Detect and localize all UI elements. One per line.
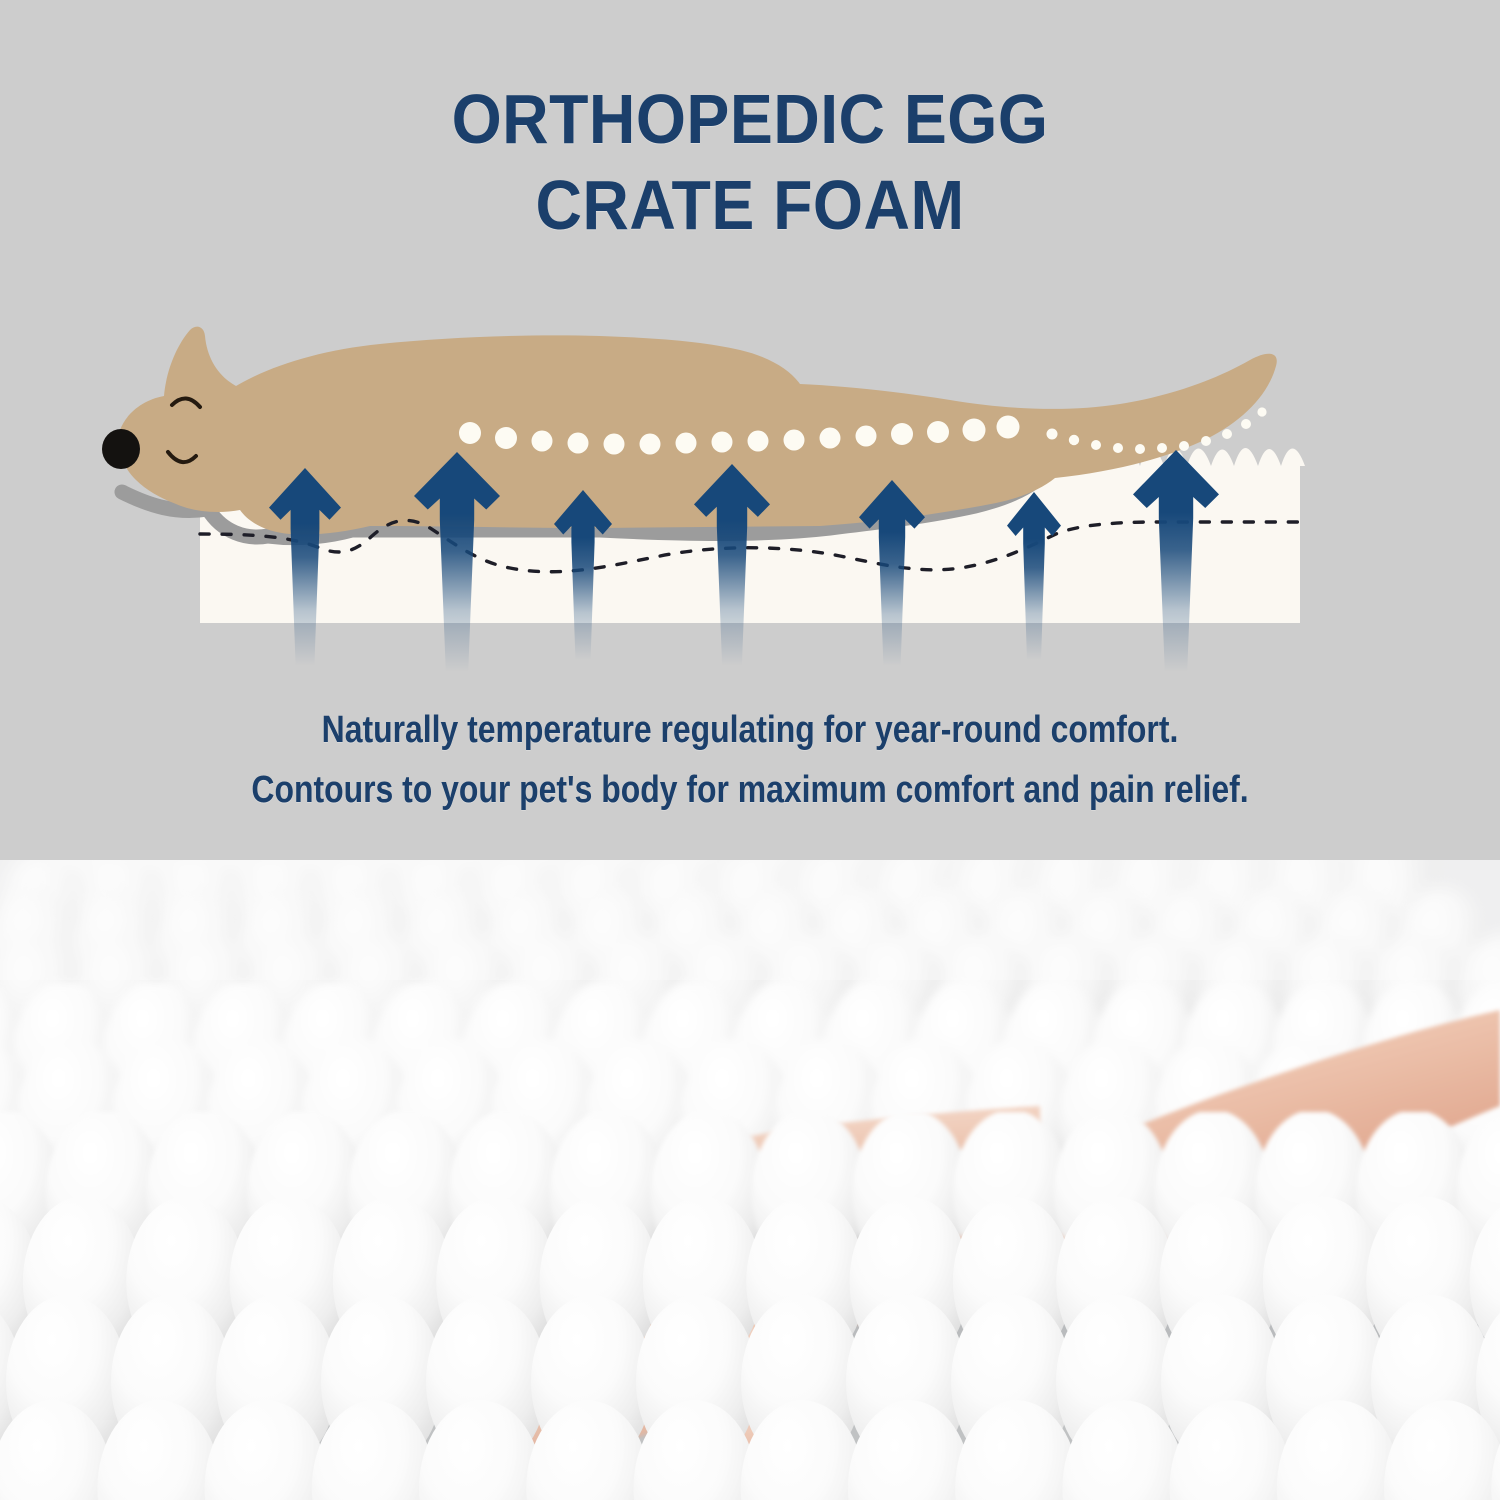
title-line-1: ORTHOPEDIC EGG <box>60 76 1440 162</box>
subtitle-line-1: Naturally temperature regulating for yea… <box>120 700 1380 760</box>
foam-texture-photo <box>0 860 1500 1500</box>
feature-description: Naturally temperature regulating for yea… <box>0 700 1500 820</box>
product-feature-graphic: ORTHOPEDIC EGG CRATE FOAM <box>0 0 1500 1500</box>
subtitle-line-2: Contours to your pet's body for maximum … <box>120 760 1380 820</box>
page-title: ORTHOPEDIC EGG CRATE FOAM <box>0 76 1500 248</box>
dog-nose <box>102 429 140 469</box>
title-line-2: CRATE FOAM <box>60 162 1440 248</box>
infographic-panel: ORTHOPEDIC EGG CRATE FOAM <box>0 0 1500 860</box>
foam-support-diagram <box>0 300 1500 680</box>
